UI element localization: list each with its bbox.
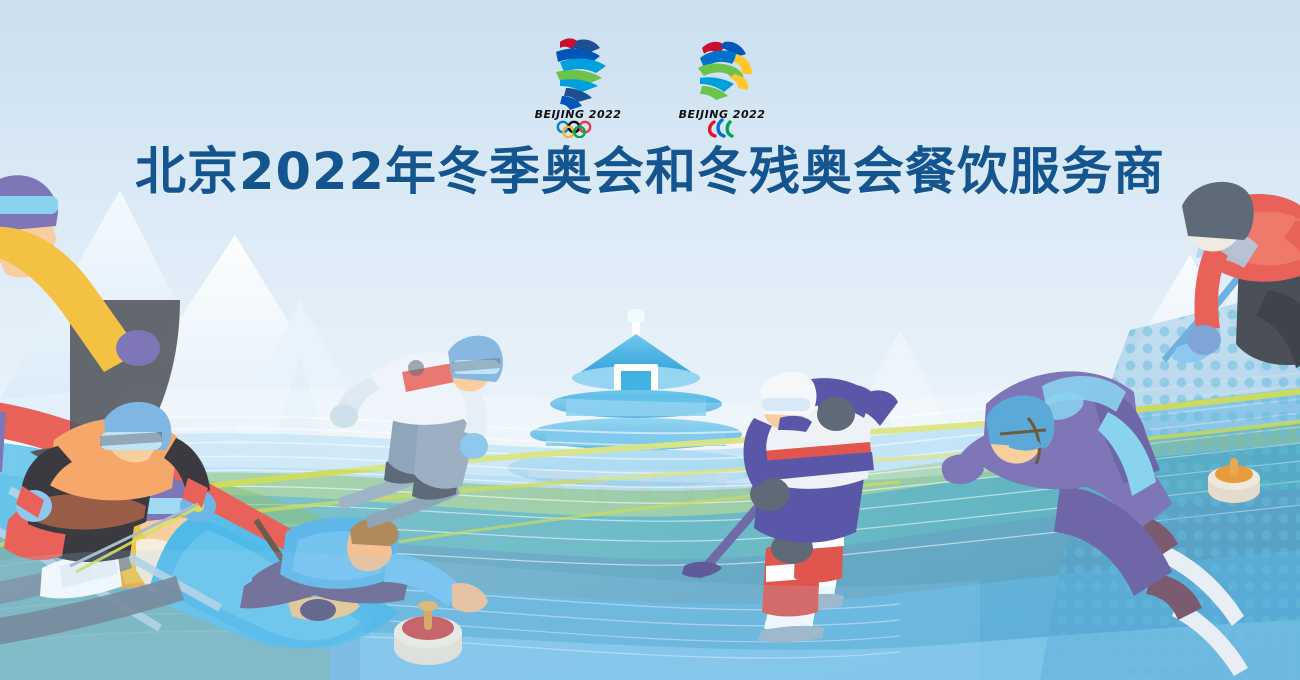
paralympic-agitos-icon [710,120,732,136]
flying-high-ribbon-icon [698,42,752,100]
beijing-2022-catering-service-banner: BEIJING 2022 [0,0,1300,680]
banner-title: 北京2022年冬季奥会和冬残奥会餐饮服务商 [0,143,1300,203]
athlete-short-track-speed-skater [330,336,503,528]
emblem-row: BEIJING 2022 [0,26,1300,138]
banner-title-text: 北京2022年冬季奥会和冬残奥会餐饮服务商 [135,143,1165,203]
beijing-2022-paralympic-emblem: BEIJING 2022 [674,26,770,138]
winter-dream-ribbon-icon [556,38,606,110]
athlete-speed-skater [942,371,1248,676]
olympic-wordmark: BEIJING 2022 [535,108,622,121]
athlete-curler-sweeping [1164,182,1300,503]
beijing-2022-olympic-emblem: BEIJING 2022 [530,26,626,138]
olympic-rings-icon [558,122,590,137]
curling-stone-right [1208,458,1260,503]
